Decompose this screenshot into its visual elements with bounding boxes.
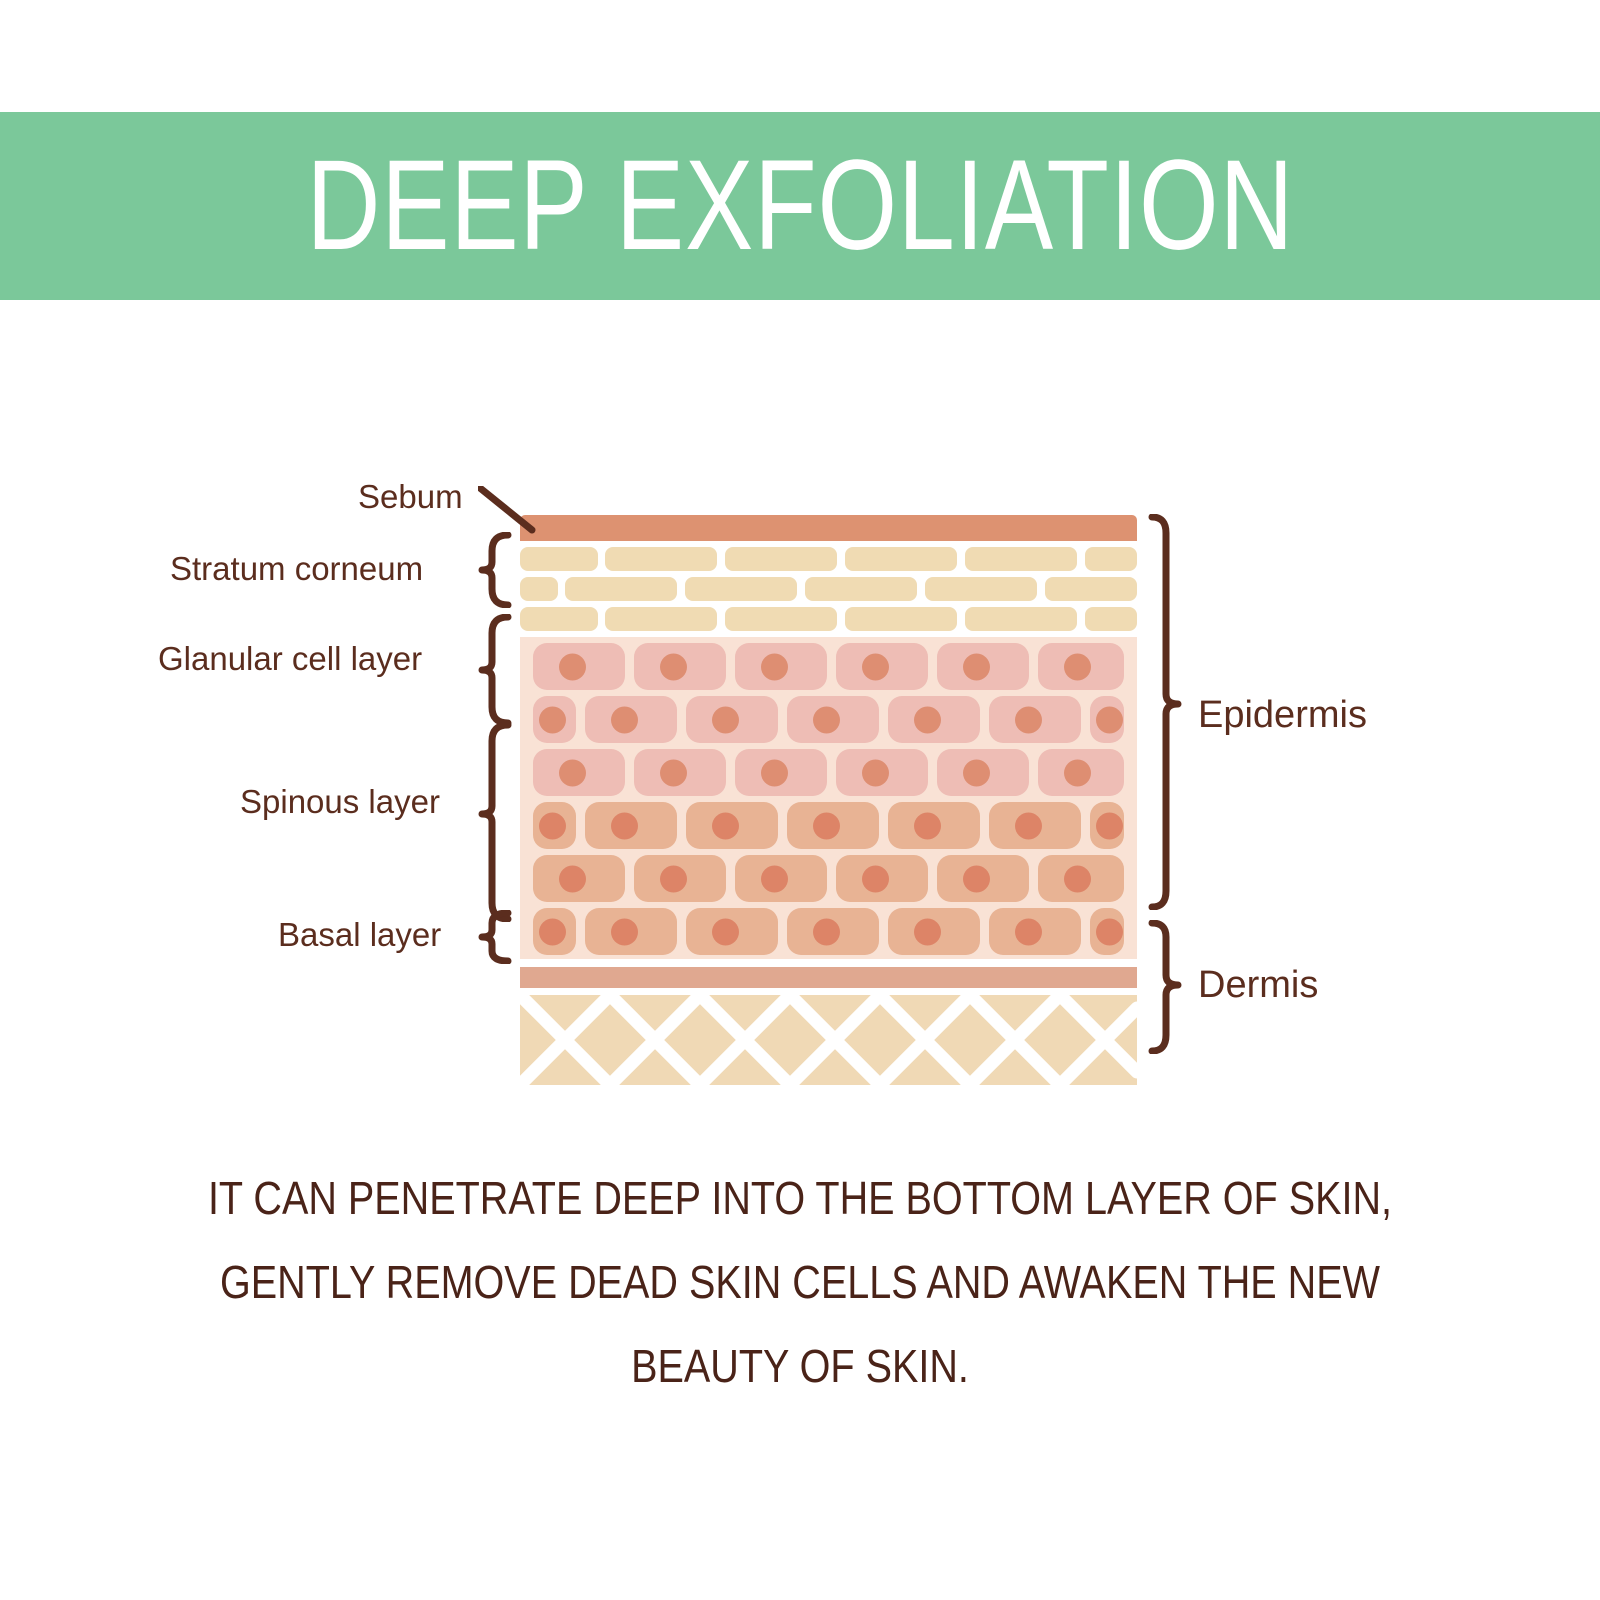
label-granular-cell-layer: Glanular cell layer xyxy=(158,642,422,675)
cell-nucleus xyxy=(559,865,586,892)
corneum-brick xyxy=(1045,577,1137,601)
cell-nucleus xyxy=(914,918,941,945)
cell-nucleus xyxy=(862,653,889,680)
cell-nucleus xyxy=(660,865,687,892)
epidermal-cell xyxy=(585,696,677,743)
epidermal-cell-row xyxy=(520,855,1137,902)
cell-nucleus xyxy=(761,865,788,892)
epidermal-cell xyxy=(989,802,1081,849)
epidermal-cell xyxy=(533,696,576,743)
epidermal-cell xyxy=(1090,696,1124,743)
epidermal-cell xyxy=(1090,908,1124,955)
cell-nucleus xyxy=(559,653,586,680)
label-stratum-corneum: Stratum corneum xyxy=(170,552,423,585)
sebum-leader-line xyxy=(478,486,536,538)
corneum-brick-row xyxy=(520,547,1137,571)
basal-gap-top xyxy=(520,959,1137,967)
epidermal-cell xyxy=(1038,643,1124,690)
cell-nucleus xyxy=(963,653,990,680)
label-spinous-layer: Spinous layer xyxy=(240,785,440,818)
cell-nucleus xyxy=(712,812,739,839)
epidermal-cell xyxy=(585,802,677,849)
basal-gap-bottom xyxy=(520,988,1137,995)
corneum-brick xyxy=(725,607,837,631)
epidermal-cell xyxy=(1038,855,1124,902)
epidermal-cell xyxy=(533,908,576,955)
corneum-brick xyxy=(965,547,1077,571)
layer-dermis xyxy=(520,995,1137,1085)
corneum-brick xyxy=(520,547,598,571)
cell-nucleus xyxy=(660,759,687,786)
cell-nucleus xyxy=(1096,706,1123,733)
cell-nucleus xyxy=(611,706,638,733)
cell-nucleus xyxy=(963,759,990,786)
cell-nucleus xyxy=(1064,865,1091,892)
page-title: DEEP EXFOLIATION xyxy=(306,142,1294,270)
layer-stratum-corneum xyxy=(520,541,1137,631)
cell-nucleus xyxy=(1015,812,1042,839)
corneum-brick xyxy=(685,577,797,601)
cell-nucleus xyxy=(1064,759,1091,786)
epidermal-cell xyxy=(634,749,726,796)
cell-nucleus xyxy=(539,812,566,839)
epidermal-cell xyxy=(1038,749,1124,796)
layer-sebum xyxy=(520,515,1137,541)
corneum-brick xyxy=(1085,607,1137,631)
label-epidermis: Epidermis xyxy=(1198,696,1367,734)
epidermal-cell xyxy=(937,643,1029,690)
cell-nucleus xyxy=(712,918,739,945)
epidermal-cell xyxy=(533,855,625,902)
dermis-lattice-icon xyxy=(520,995,1137,1085)
corneum-brick xyxy=(805,577,917,601)
corneum-brick xyxy=(965,607,1077,631)
brace-dermis xyxy=(1146,920,1184,1054)
epidermal-cell xyxy=(989,696,1081,743)
layer-cell-band xyxy=(520,637,1137,959)
corneum-brick xyxy=(725,547,837,571)
epidermal-cell xyxy=(836,643,928,690)
header-banner: DEEP EXFOLIATION xyxy=(0,112,1600,300)
corneum-brick xyxy=(925,577,1037,601)
label-basal-layer: Basal layer xyxy=(278,918,441,951)
cell-nucleus xyxy=(1015,918,1042,945)
cell-nucleus xyxy=(611,918,638,945)
cell-nucleus xyxy=(660,653,687,680)
corneum-brick xyxy=(605,547,717,571)
epidermal-cell xyxy=(787,908,879,955)
epidermal-cell xyxy=(735,749,827,796)
epidermal-cell xyxy=(888,696,980,743)
cell-nucleus xyxy=(813,812,840,839)
corneum-brick xyxy=(1085,547,1137,571)
layer-basal xyxy=(520,967,1137,988)
label-dermis: Dermis xyxy=(1198,966,1318,1004)
skin-cross-section-diagram: Sebum Stratum corneum Glanular cell laye… xyxy=(0,440,1600,1090)
cell-nucleus xyxy=(914,706,941,733)
epidermal-cell xyxy=(787,696,879,743)
epidermal-cell-row xyxy=(520,696,1137,743)
epidermal-cell xyxy=(634,855,726,902)
caption-line: BEAUTY OF SKIN. xyxy=(112,1343,1488,1389)
brace-spinous xyxy=(478,722,512,922)
epidermal-cell xyxy=(836,855,928,902)
cell-nucleus xyxy=(611,812,638,839)
epidermal-cell xyxy=(1090,802,1124,849)
brace-stratum-corneum xyxy=(478,532,512,608)
skin-layer-stack xyxy=(520,515,1137,1085)
corneum-brick-row xyxy=(520,577,1137,601)
epidermal-cell xyxy=(937,749,1029,796)
cell-nucleus xyxy=(712,706,739,733)
epidermal-cell-row xyxy=(520,643,1137,690)
epidermal-cell xyxy=(735,643,827,690)
cell-nucleus xyxy=(1096,812,1123,839)
cell-nucleus xyxy=(862,759,889,786)
epidermal-cell-row xyxy=(520,908,1137,955)
corneum-brick-row xyxy=(520,607,1137,631)
cell-nucleus xyxy=(1064,653,1091,680)
cell-nucleus xyxy=(862,865,889,892)
cell-nucleus xyxy=(1015,706,1042,733)
caption-line: IT CAN PENETRATE DEEP INTO THE BOTTOM LA… xyxy=(112,1175,1488,1221)
cell-nucleus xyxy=(963,865,990,892)
cell-nucleus xyxy=(539,706,566,733)
epidermal-cell-row xyxy=(520,802,1137,849)
epidermal-cell-row xyxy=(520,749,1137,796)
cell-nucleus xyxy=(1096,918,1123,945)
epidermal-cell xyxy=(989,908,1081,955)
brace-granular xyxy=(478,614,512,726)
corneum-brick xyxy=(845,547,957,571)
corneum-brick xyxy=(520,607,598,631)
epidermal-cell xyxy=(787,802,879,849)
cell-nucleus xyxy=(761,759,788,786)
corneum-brick xyxy=(845,607,957,631)
epidermal-cell xyxy=(686,802,778,849)
epidermal-cell xyxy=(533,643,625,690)
epidermal-cell xyxy=(533,749,625,796)
epidermal-cell xyxy=(888,908,980,955)
epidermal-cell xyxy=(585,908,677,955)
epidermal-cell xyxy=(533,802,576,849)
cell-nucleus xyxy=(813,706,840,733)
cell-nucleus xyxy=(539,918,566,945)
epidermal-cell xyxy=(634,643,726,690)
epidermal-cell xyxy=(888,802,980,849)
brace-epidermis xyxy=(1146,514,1184,910)
epidermal-cell xyxy=(836,749,928,796)
epidermal-cell xyxy=(735,855,827,902)
corneum-brick xyxy=(565,577,677,601)
cell-nucleus xyxy=(559,759,586,786)
corneum-brick xyxy=(605,607,717,631)
caption-line: GENTLY REMOVE DEAD SKIN CELLS AND AWAKEN… xyxy=(112,1259,1488,1305)
caption-block: IT CAN PENETRATE DEEP INTO THE BOTTOM LA… xyxy=(0,1175,1600,1389)
epidermal-cell xyxy=(937,855,1029,902)
epidermal-cell xyxy=(686,908,778,955)
epidermal-cell xyxy=(686,696,778,743)
cell-nucleus xyxy=(813,918,840,945)
brace-basal xyxy=(478,910,512,964)
label-sebum: Sebum xyxy=(358,480,463,513)
cell-nucleus xyxy=(761,653,788,680)
corneum-brick xyxy=(520,577,558,601)
cell-nucleus xyxy=(914,812,941,839)
